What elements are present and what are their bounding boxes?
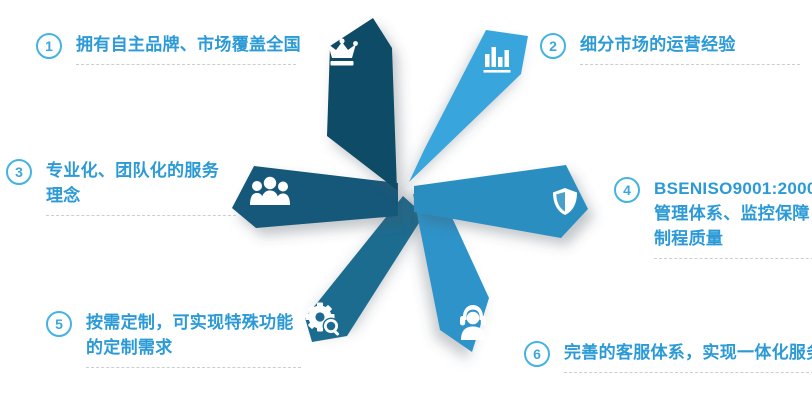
arrow-2-up-right (409, 30, 528, 182)
list-item-6[interactable]: 6 完善的客服体系，实现一体化服务 (524, 340, 812, 373)
number-badge-3: 3 (6, 159, 32, 185)
list-item-3[interactable]: 3 专业化、团队化的服务 理念 (6, 158, 236, 216)
item-6-divider (564, 372, 812, 373)
list-item-4[interactable]: 4 BSENISO9001:2000 管理体系、监控保障 制程质量 (614, 176, 812, 259)
item-3-line-1: 专业化、团队化的服务 (46, 158, 236, 183)
item-3-line-2: 理念 (46, 183, 236, 208)
item-6-text: 完善的客服体系，实现一体化服务 (564, 340, 812, 373)
item-6-line-1: 完善的客服体系，实现一体化服务 (564, 340, 812, 365)
list-item-2[interactable]: 2 细分市场的运营经验 (540, 32, 800, 65)
item-4-line-2: 管理体系、监控保障 (654, 201, 812, 226)
item-1-line-1: 拥有自主品牌、市场覆盖全国 (76, 32, 301, 57)
item-2-text: 细分市场的运营经验 (580, 32, 800, 65)
number-badge-5: 5 (46, 311, 72, 337)
item-2-line-1: 细分市场的运营经验 (580, 32, 800, 57)
number-badge-2: 2 (540, 33, 566, 59)
item-1-divider (76, 64, 296, 65)
item-5-divider (86, 367, 301, 368)
item-2-divider (580, 64, 800, 65)
arrow-1-up (327, 18, 397, 190)
number-badge-6: 6 (524, 341, 550, 367)
item-5-line-1: 按需定制，可实现特殊功能 (86, 310, 301, 335)
item-4-divider (654, 258, 812, 259)
item-5-line-2: 的定制需求 (86, 335, 301, 360)
item-1-text: 拥有自主品牌、市场覆盖全国 (76, 32, 301, 65)
item-4-text: BSENISO9001:2000 管理体系、监控保障 制程质量 (654, 176, 812, 259)
item-3-text: 专业化、团队化的服务 理念 (46, 158, 236, 216)
list-item-1[interactable]: 1 拥有自主品牌、市场覆盖全国 (36, 32, 301, 65)
number-badge-4: 4 (614, 177, 640, 203)
item-4-line-3: 制程质量 (654, 226, 812, 251)
item-5-text: 按需定制，可实现特殊功能 的定制需求 (86, 310, 301, 368)
item-4-line-1: BSENISO9001:2000 (654, 176, 812, 201)
number-badge-1: 1 (36, 33, 62, 59)
infographic-canvas: 1 拥有自主品牌、市场覆盖全国 2 细分市场的运营经验 3 专业化、团队化的服务… (0, 0, 812, 406)
list-item-5[interactable]: 5 按需定制，可实现特殊功能 的定制需求 (46, 310, 301, 368)
item-3-divider (46, 215, 236, 216)
